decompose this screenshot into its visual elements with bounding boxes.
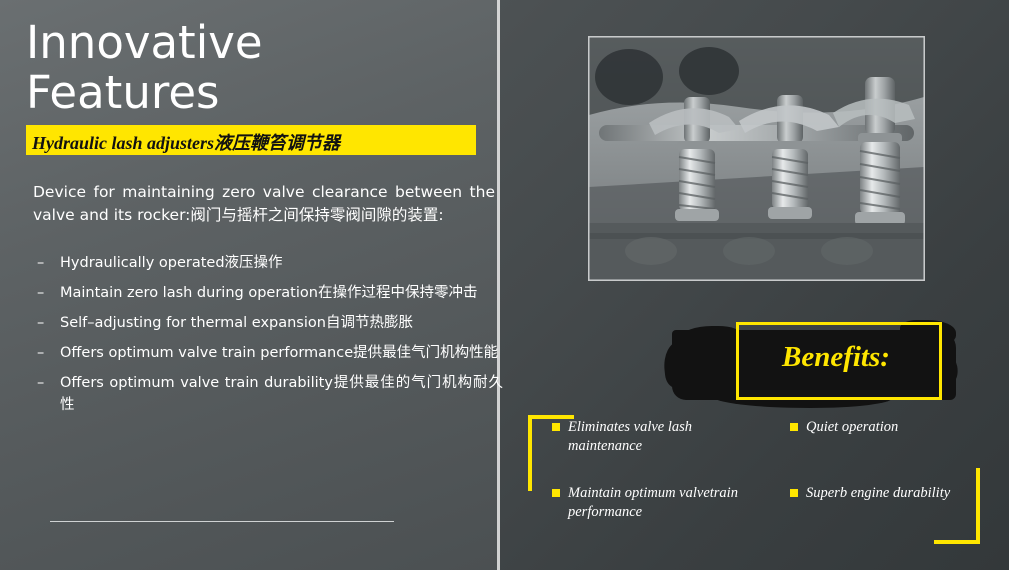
benefit-item: Quiet operation	[806, 418, 976, 437]
list-item: – Hydraulically operated液压操作	[33, 252, 503, 274]
bullet-dash-icon: –	[37, 252, 44, 274]
slide: Innovative Features Hydraulic lash adjus…	[0, 0, 1009, 570]
bullet-square-icon	[790, 489, 798, 497]
bullet-square-icon	[552, 489, 560, 497]
benefit-item-label: Quiet operation	[806, 419, 898, 435]
benefit-item: Eliminates valve lash maintenance	[568, 418, 768, 456]
list-item: – Maintain zero lash during operation在操作…	[33, 282, 503, 304]
list-item-label: Maintain zero lash during operation在操作过程…	[60, 282, 503, 304]
subtitle-text: Hydraulic lash adjusters液压鞭笞调节器	[32, 129, 340, 155]
list-item: – Offers optimum valve train durability提…	[33, 372, 503, 416]
bullet-square-icon	[552, 423, 560, 431]
list-item-label: Offers optimum valve train performance提供…	[60, 342, 503, 364]
benefit-item-label: Eliminates valve lash maintenance	[568, 419, 692, 454]
footer-divider	[50, 521, 394, 522]
bullet-dash-icon: –	[37, 282, 44, 304]
engine-render-graphic	[589, 37, 924, 280]
bullet-dash-icon: –	[37, 342, 44, 364]
bullet-dash-icon: –	[37, 372, 44, 394]
list-item: – Self–adjusting for thermal expansion自调…	[33, 312, 503, 334]
benefit-item: Maintain optimum valvetrain performance	[568, 484, 778, 522]
list-item-label: Hydraulically operated液压操作	[60, 252, 503, 274]
list-item: – Offers optimum valve train performance…	[33, 342, 503, 364]
bullet-dash-icon: –	[37, 312, 44, 334]
title-line-2: Features	[26, 68, 263, 118]
body-paragraph: Device for maintaining zero valve cleara…	[33, 181, 495, 227]
bullet-list: – Hydraulically operated液压操作 – Maintain …	[33, 252, 503, 424]
corner-bracket-bottom-right	[934, 468, 980, 544]
list-item-label: Self–adjusting for thermal expansion自调节热…	[60, 312, 503, 334]
bullet-square-icon	[790, 423, 798, 431]
benefit-item-label: Maintain optimum valvetrain performance	[568, 485, 738, 520]
engine-valvetrain-image	[588, 36, 925, 281]
benefit-item-label: Superb engine durability	[806, 485, 950, 501]
list-item-label: Offers optimum valve train durability提供最…	[60, 372, 503, 416]
title-line-1: Innovative	[26, 18, 263, 68]
benefit-heading: Benefits:	[782, 340, 942, 374]
benefit-item: Superb engine durability	[806, 484, 966, 503]
page-title: Innovative Features	[26, 18, 263, 118]
